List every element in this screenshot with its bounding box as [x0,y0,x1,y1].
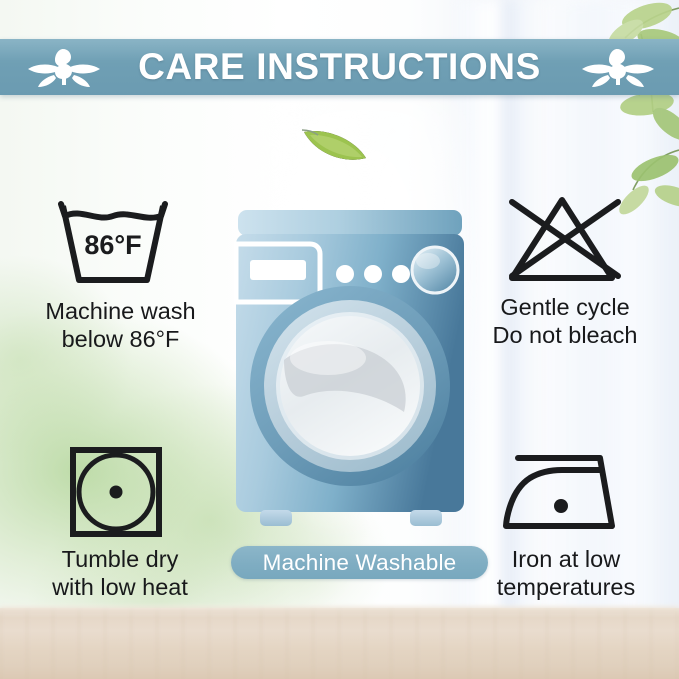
care-label-iron: Iron at low temperatures [497,545,635,601]
knob-highlight [416,253,440,269]
tumble-dry-low-icon [65,444,175,539]
care-symbol-do-not-bleach: Gentle cycle Do not bleach [458,192,672,349]
triangle-crossed-icon [500,192,630,287]
wash-temperature-value: 86°F [84,230,141,260]
care-symbol-machine-wash: 86°F Machine wash below 86°F [18,196,223,353]
program-knob [412,247,458,293]
table-wood-grain [0,608,679,679]
drawer-handle [250,260,306,280]
indicator-light [336,265,354,283]
wash-tub-icon: 86°F [51,196,191,291]
floating-leaf-icon [300,118,372,166]
care-instructions-infographic: CARE INSTRUCTIONS 86°F Machine wash belo… [0,0,679,679]
machine-washable-badge: Machine Washable [231,546,488,579]
page-title: CARE INSTRUCTIONS [0,39,679,95]
iron-one-dot-icon [496,444,636,539]
table-front-edge [0,606,679,614]
care-label-do-not-bleach: Gentle cycle Do not bleach [492,293,637,349]
care-symbol-iron: Iron at low temperatures [460,444,672,601]
washing-machine-illustration [232,208,468,538]
indicator-light [392,265,410,283]
care-label-machine-wash: Machine wash below 86°F [45,297,195,353]
door-glass-highlight [290,341,366,375]
machine-foot [260,510,292,526]
care-symbol-tumble-dry: Tumble dry with low heat [20,444,220,601]
machine-foot [410,510,442,526]
indicator-light [364,265,382,283]
care-label-tumble-dry: Tumble dry with low heat [52,545,188,601]
machine-top-lid [238,210,462,236]
